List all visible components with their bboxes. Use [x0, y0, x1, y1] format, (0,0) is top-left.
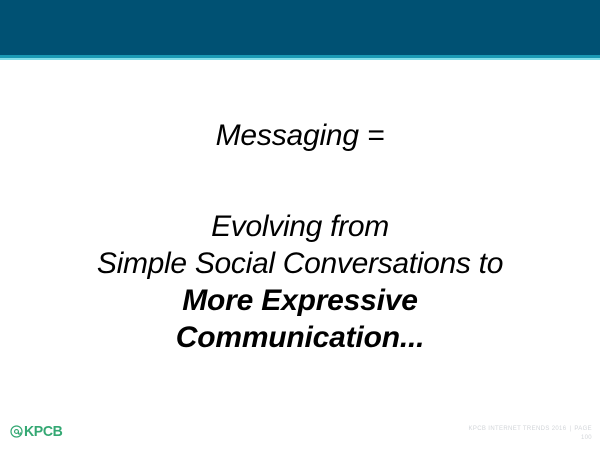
at-sign-icon [10, 425, 23, 438]
headline-block: Messaging = [0, 118, 600, 154]
footer-page-number: 100 [332, 434, 592, 443]
header-band [0, 0, 600, 55]
body-block: Evolving from Simple Social Conversation… [0, 208, 600, 356]
footer-page-label: PAGE [574, 426, 592, 432]
body-line-2: Simple Social Conversations to [0, 245, 600, 282]
footer-source: KPCB INTERNET TRENDS 2016 [469, 426, 567, 432]
header-accent-rule-cyan [0, 58, 600, 60]
body-line-4: Communication... [0, 319, 600, 356]
body-line-1: Evolving from [0, 208, 600, 245]
kpcb-logo: KPCB [10, 424, 65, 439]
kpcb-logo-wordmark: KPCB [24, 424, 62, 439]
footer-meta: KPCB INTERNET TRENDS 2016|PAGE 100 [332, 425, 592, 443]
body-line-3: More Expressive [0, 282, 600, 319]
slide-headline: Messaging = [0, 118, 600, 154]
slide: Messaging = Evolving from Simple Social … [0, 0, 600, 450]
